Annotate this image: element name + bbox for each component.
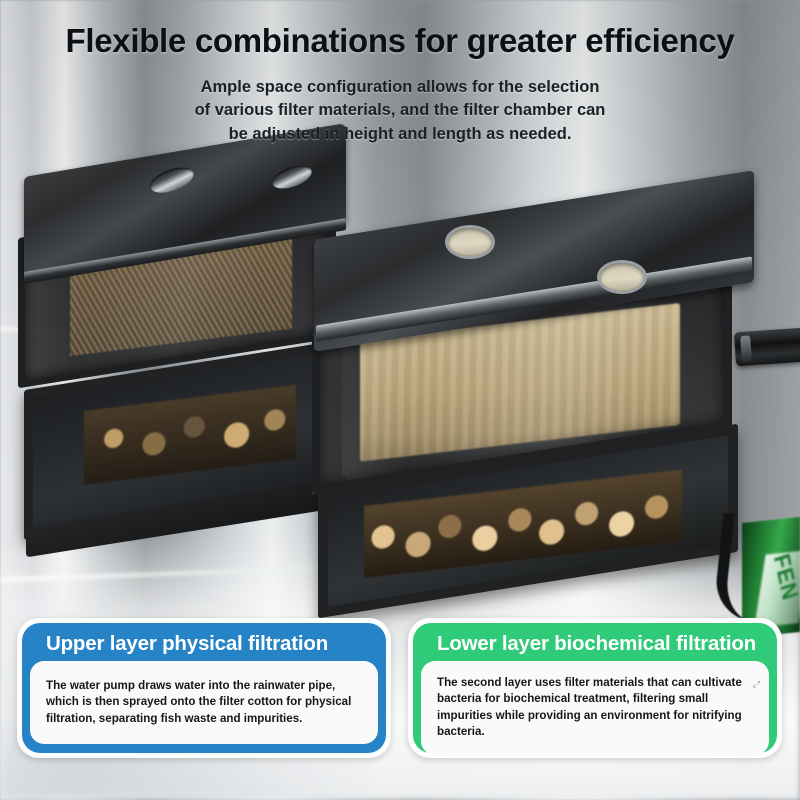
right-lid-hole-1-icon <box>448 228 492 256</box>
callout-lower-body: The second layer uses filter materials t… <box>421 661 769 755</box>
callout-lower-text: The second layer uses filter materials t… <box>437 675 753 741</box>
page-title: Flexible combinations for greater effici… <box>0 22 800 60</box>
right-lid-hole-2-icon <box>600 263 644 291</box>
header: Flexible combinations for greater effici… <box>0 22 800 146</box>
callout-card-upper-layer: Upper layer physical filtration The wate… <box>17 618 391 758</box>
subtitle-line-2: of various filter materials, and the fil… <box>0 99 800 122</box>
left-lid-hole-2-icon <box>271 161 313 193</box>
subtitle-line-3: be adjusted in height and length as need… <box>0 123 800 146</box>
resize-handle-icon: ⤢ <box>753 679 760 690</box>
callout-upper-body: The water pump draws water into the rain… <box>30 661 378 744</box>
callout-upper-text: The water pump draws water into the rain… <box>46 678 362 727</box>
callout-lower-title: Lower layer biochemical filtration <box>421 630 769 661</box>
right-filter-chamber <box>300 205 770 605</box>
subtitle-line-1: Ample space configuration allows for the… <box>0 76 800 99</box>
inlet-pipe <box>734 328 800 367</box>
callout-upper-title: Upper layer physical filtration <box>30 630 378 661</box>
callout-lower-inner: Lower layer biochemical filtration The s… <box>413 623 777 753</box>
callout-upper-inner: Upper layer physical filtration The wate… <box>22 623 386 753</box>
callout-card-lower-layer: Lower layer biochemical filtration The s… <box>408 618 782 758</box>
left-lid-hole-1-icon <box>149 163 196 198</box>
subtitle: Ample space configuration allows for the… <box>0 76 800 146</box>
